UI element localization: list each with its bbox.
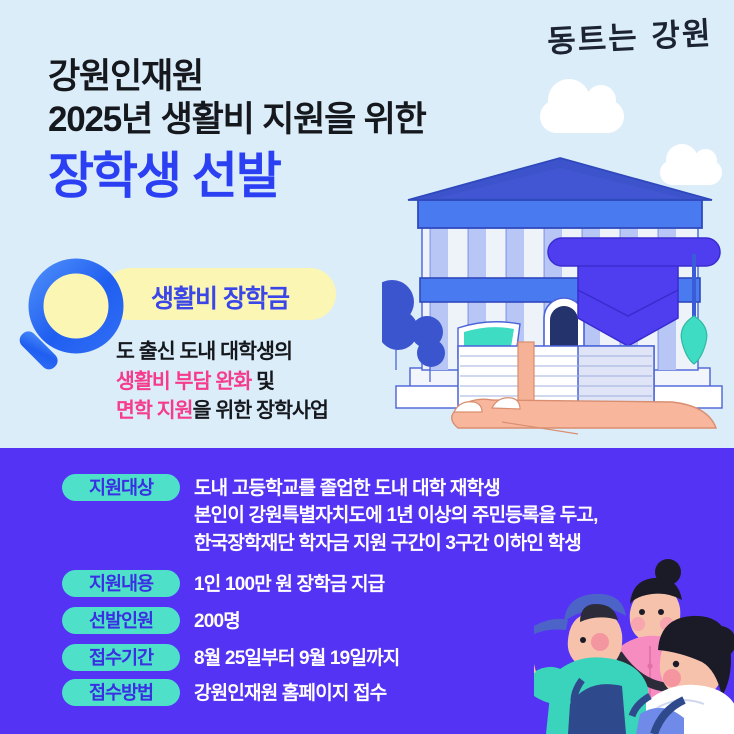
headline-line-2: 2025년 생활비 지원을 위한 [48,99,426,142]
description-highlight-2: 면학 지원 [116,399,193,422]
detail-label-method: 접수방법 [62,679,180,706]
program-name-badge: 생활비 장학금 [104,268,336,320]
program-name-label: 생활비 장학금 [104,279,336,315]
description-highlight-1: 생활비 부담 완화 [116,370,251,393]
amount-suffix: 지급 [347,574,385,595]
program-description: 도 출신 도내 대학생의 생활비 부담 완화 및 면학 지원을 위한 장학사업 [116,337,328,426]
magnifier-icon [14,258,134,378]
target-line-3: 한국장학재단 학자금 지원 구간이 3구간 이하인 학생 [194,530,598,557]
detail-value-target: 도내 고등학교를 졸업한 도내 대학 재학생 본인이 강원특별자치도에 1년 이… [194,474,598,557]
description-rest-1: 및 [251,370,274,393]
brand-logo: 동트는 강원 [546,8,714,62]
tree-icon [382,280,418,370]
detail-label-period: 접수기간 [62,644,180,671]
detail-value-period: 8월 25일부터 9월 19일까지 [194,644,399,672]
poster-top-section: 동트는 강원 강원인재원 2025년 생활비 지원을 위한 장학생 선발 생활비… [0,0,734,448]
page-title: 강원인재원 2025년 생활비 지원을 위한 장학생 선발 [48,56,426,206]
headline-line-1: 강원인재원 [48,56,426,99]
detail-label-amount: 지원내용 [62,570,180,597]
detail-label-target: 지원대상 [62,474,180,501]
detail-value-method: 강원인재원 홈페이지 접수 [194,679,386,707]
scholarship-poster: 동트는 강원 강원인재원 2025년 생활비 지원을 위한 장학생 선발 생활비… [0,0,734,734]
detail-row-method: 접수방법 강원인재원 홈페이지 접수 [62,679,386,707]
detail-row-amount: 지원내용 1인 100만 원 장학금 지급 [62,570,384,598]
target-line-2: 본인이 강원특별자치도에 1년 이상의 주민등록을 두고, [194,502,598,529]
students-group-icon [534,554,734,734]
poster-details-section: 지원대상 도내 고등학교를 졸업한 도내 대학 재학생 본인이 강원특별자치도에… [0,448,734,734]
amount-bold: 100만 원 장학금 [225,574,347,595]
description-line-2: 생활비 부담 완화 및 [116,367,328,397]
target-line-1: 도내 고등학교를 졸업한 도내 대학 재학생 [194,475,598,502]
detail-value-amount: 1인 100만 원 장학금 지급 [194,570,384,598]
hand-holding-books-icon [452,398,716,434]
detail-row-period: 접수기간 8월 25일부터 9월 19일까지 [62,644,399,672]
description-line-3: 면학 지원을 위한 장학사업 [116,396,328,426]
description-rest-2: 을 위한 장학사업 [193,399,328,422]
cloud-icon [540,100,624,133]
headline-accent: 장학생 선발 [48,147,426,206]
detail-row-count: 선발인원 200명 [62,607,240,635]
detail-label-count: 선발인원 [62,607,180,634]
description-line-1: 도 출신 도내 대학생의 [116,337,328,367]
detail-row-target: 지원대상 도내 고등학교를 졸업한 도내 대학 재학생 본인이 강원특별자치도에… [62,474,598,557]
detail-value-count: 200명 [194,607,240,635]
university-building-icon [382,150,734,448]
amount-prefix: 1인 [194,574,225,595]
